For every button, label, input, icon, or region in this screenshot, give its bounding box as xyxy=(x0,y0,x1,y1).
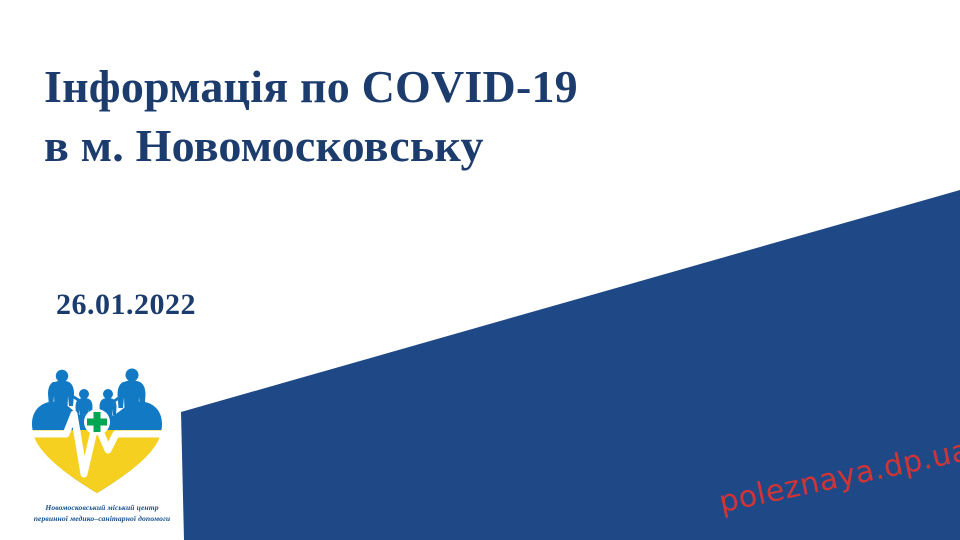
logo-caption: Новомосковський міський центр первинної … xyxy=(14,502,190,524)
logo: Новомосковський міський центр первинної … xyxy=(14,362,184,534)
watermark: poleznaya.dp.ua xyxy=(716,433,960,520)
page-title: Інформація по COVID-19 в м. Новомосковсь… xyxy=(44,58,764,176)
slide-date: 26.01.2022 xyxy=(56,288,196,322)
heart-bottom-half xyxy=(33,430,162,493)
health-center-emblem-icon xyxy=(22,362,172,502)
slide-canvas: Інформація по COVID-19 в м. Новомосковсь… xyxy=(0,0,960,540)
